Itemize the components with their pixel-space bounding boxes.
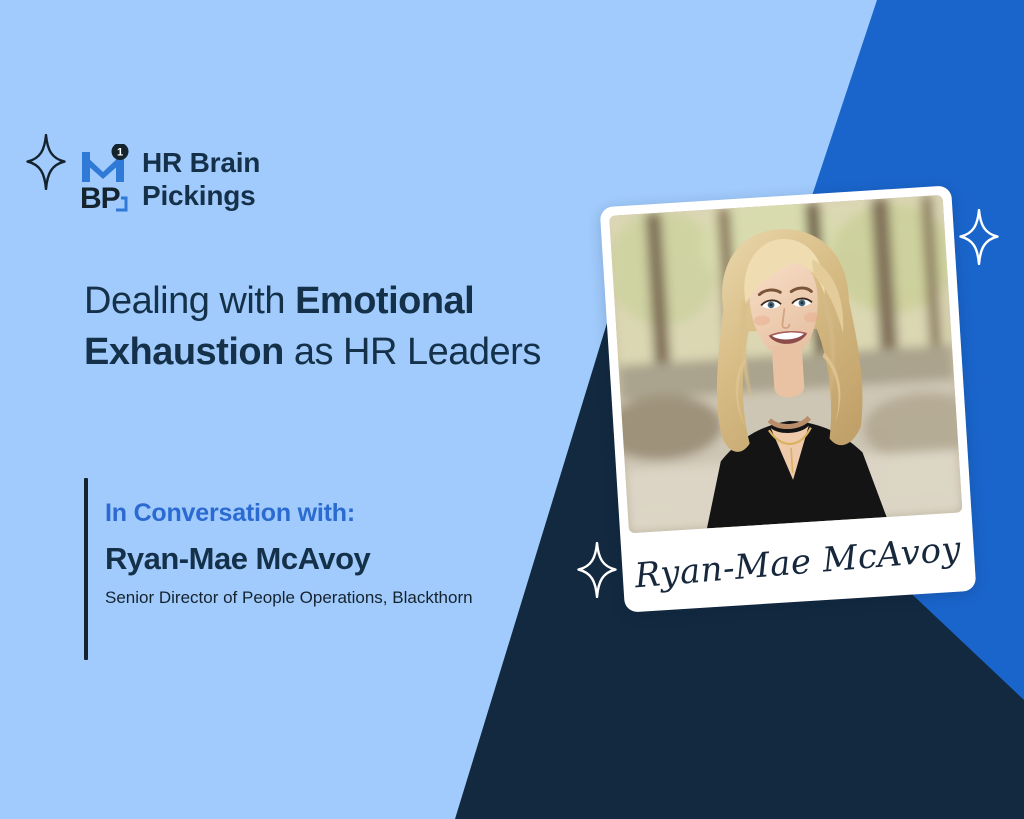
speaker-details: In Conversation with: Ryan-Mae McAvoy Se… — [88, 478, 473, 660]
title-part-2: as HR Leaders — [284, 331, 541, 373]
brand-logo[interactable]: 1 BP HR Brain Pickings — [80, 144, 260, 214]
speaker-signature: Ryan-Mae McAvoy — [634, 529, 963, 596]
svg-text:BP: BP — [80, 182, 120, 214]
logo-badge-number: 1 — [117, 146, 123, 158]
sparkle-right-icon — [959, 209, 999, 265]
brand-name-line-1: HR Brain — [142, 146, 260, 179]
speaker-photo — [609, 195, 962, 533]
slide-canvas: 1 BP HR Brain Pickings Dealing with Emot… — [0, 0, 1024, 819]
hr-brain-pickings-logo-mark-icon: 1 BP — [80, 144, 132, 214]
title-part-1: Dealing with — [84, 280, 295, 322]
speaker-name: Ryan-Mae McAvoy — [105, 540, 473, 579]
sparkle-bottom-center-icon — [577, 542, 617, 598]
brand-name-line-2: Pickings — [142, 179, 260, 212]
sparkle-top-left-icon — [26, 134, 66, 190]
brand-wordmark: HR Brain Pickings — [142, 144, 260, 212]
speaker-block: In Conversation with: Ryan-Mae McAvoy Se… — [84, 478, 473, 660]
speaker-polaroid-card: Ryan-Mae McAvoy — [600, 185, 977, 612]
speaker-kicker: In Conversation with: — [105, 498, 473, 528]
page-title: Dealing with Emotional Exhaustion as HR … — [84, 276, 544, 377]
speaker-role: Senior Director of People Operations, Bl… — [105, 586, 473, 610]
